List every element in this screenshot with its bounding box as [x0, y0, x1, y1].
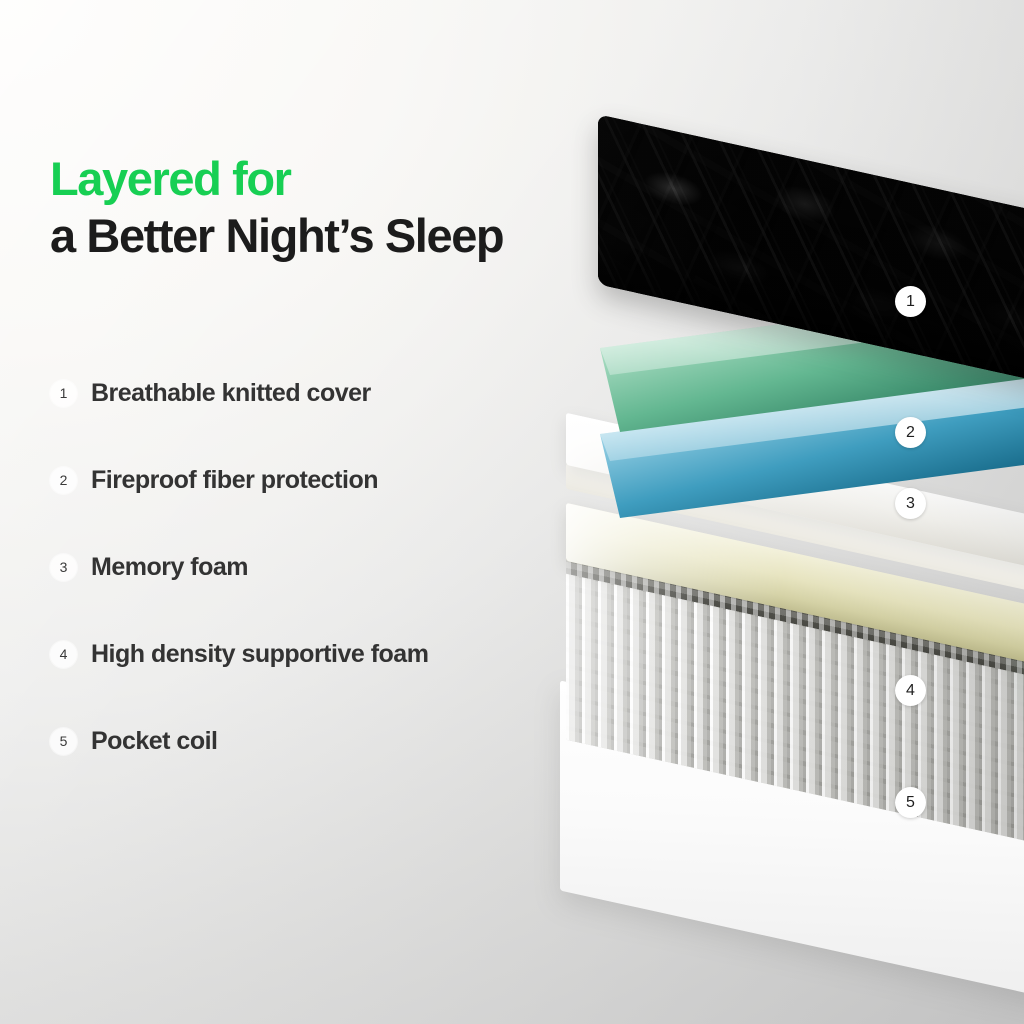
list-item: 4 High density supportive foam [50, 632, 590, 676]
stack-badge-4: 4 [895, 675, 926, 706]
list-label-4: High density supportive foam [91, 640, 428, 669]
stack-badge-5: 5 [895, 787, 926, 818]
layer-legend-list: 1 Breathable knitted cover 2 Fireproof f… [50, 371, 590, 806]
list-label-3: Memory foam [91, 553, 248, 582]
stack-badge-3: 3 [895, 488, 926, 519]
stack-badge-2: 2 [895, 417, 926, 448]
headline-line-2: a Better Night’s Sleep [50, 207, 503, 264]
list-item: 5 Pocket coil [50, 719, 590, 763]
page-title: Layered for a Better Night’s Sleep [50, 150, 503, 264]
list-label-1: Breathable knitted cover [91, 379, 371, 408]
list-badge-4: 4 [50, 641, 77, 668]
list-badge-5: 5 [50, 728, 77, 755]
headline-line-1: Layered for [50, 150, 503, 207]
list-badge-1: 1 [50, 380, 77, 407]
stack-badge-1: 1 [895, 286, 926, 317]
list-item: 2 Fireproof fiber protection [50, 458, 590, 502]
list-label-2: Fireproof fiber protection [91, 466, 378, 495]
list-label-5: Pocket coil [91, 727, 218, 756]
list-badge-2: 2 [50, 467, 77, 494]
list-item: 1 Breathable knitted cover [50, 371, 590, 415]
list-badge-3: 3 [50, 554, 77, 581]
infographic-canvas: 1 2 3 4 5 Layered for a Better Night’s S… [0, 0, 1024, 1024]
list-item: 3 Memory foam [50, 545, 590, 589]
